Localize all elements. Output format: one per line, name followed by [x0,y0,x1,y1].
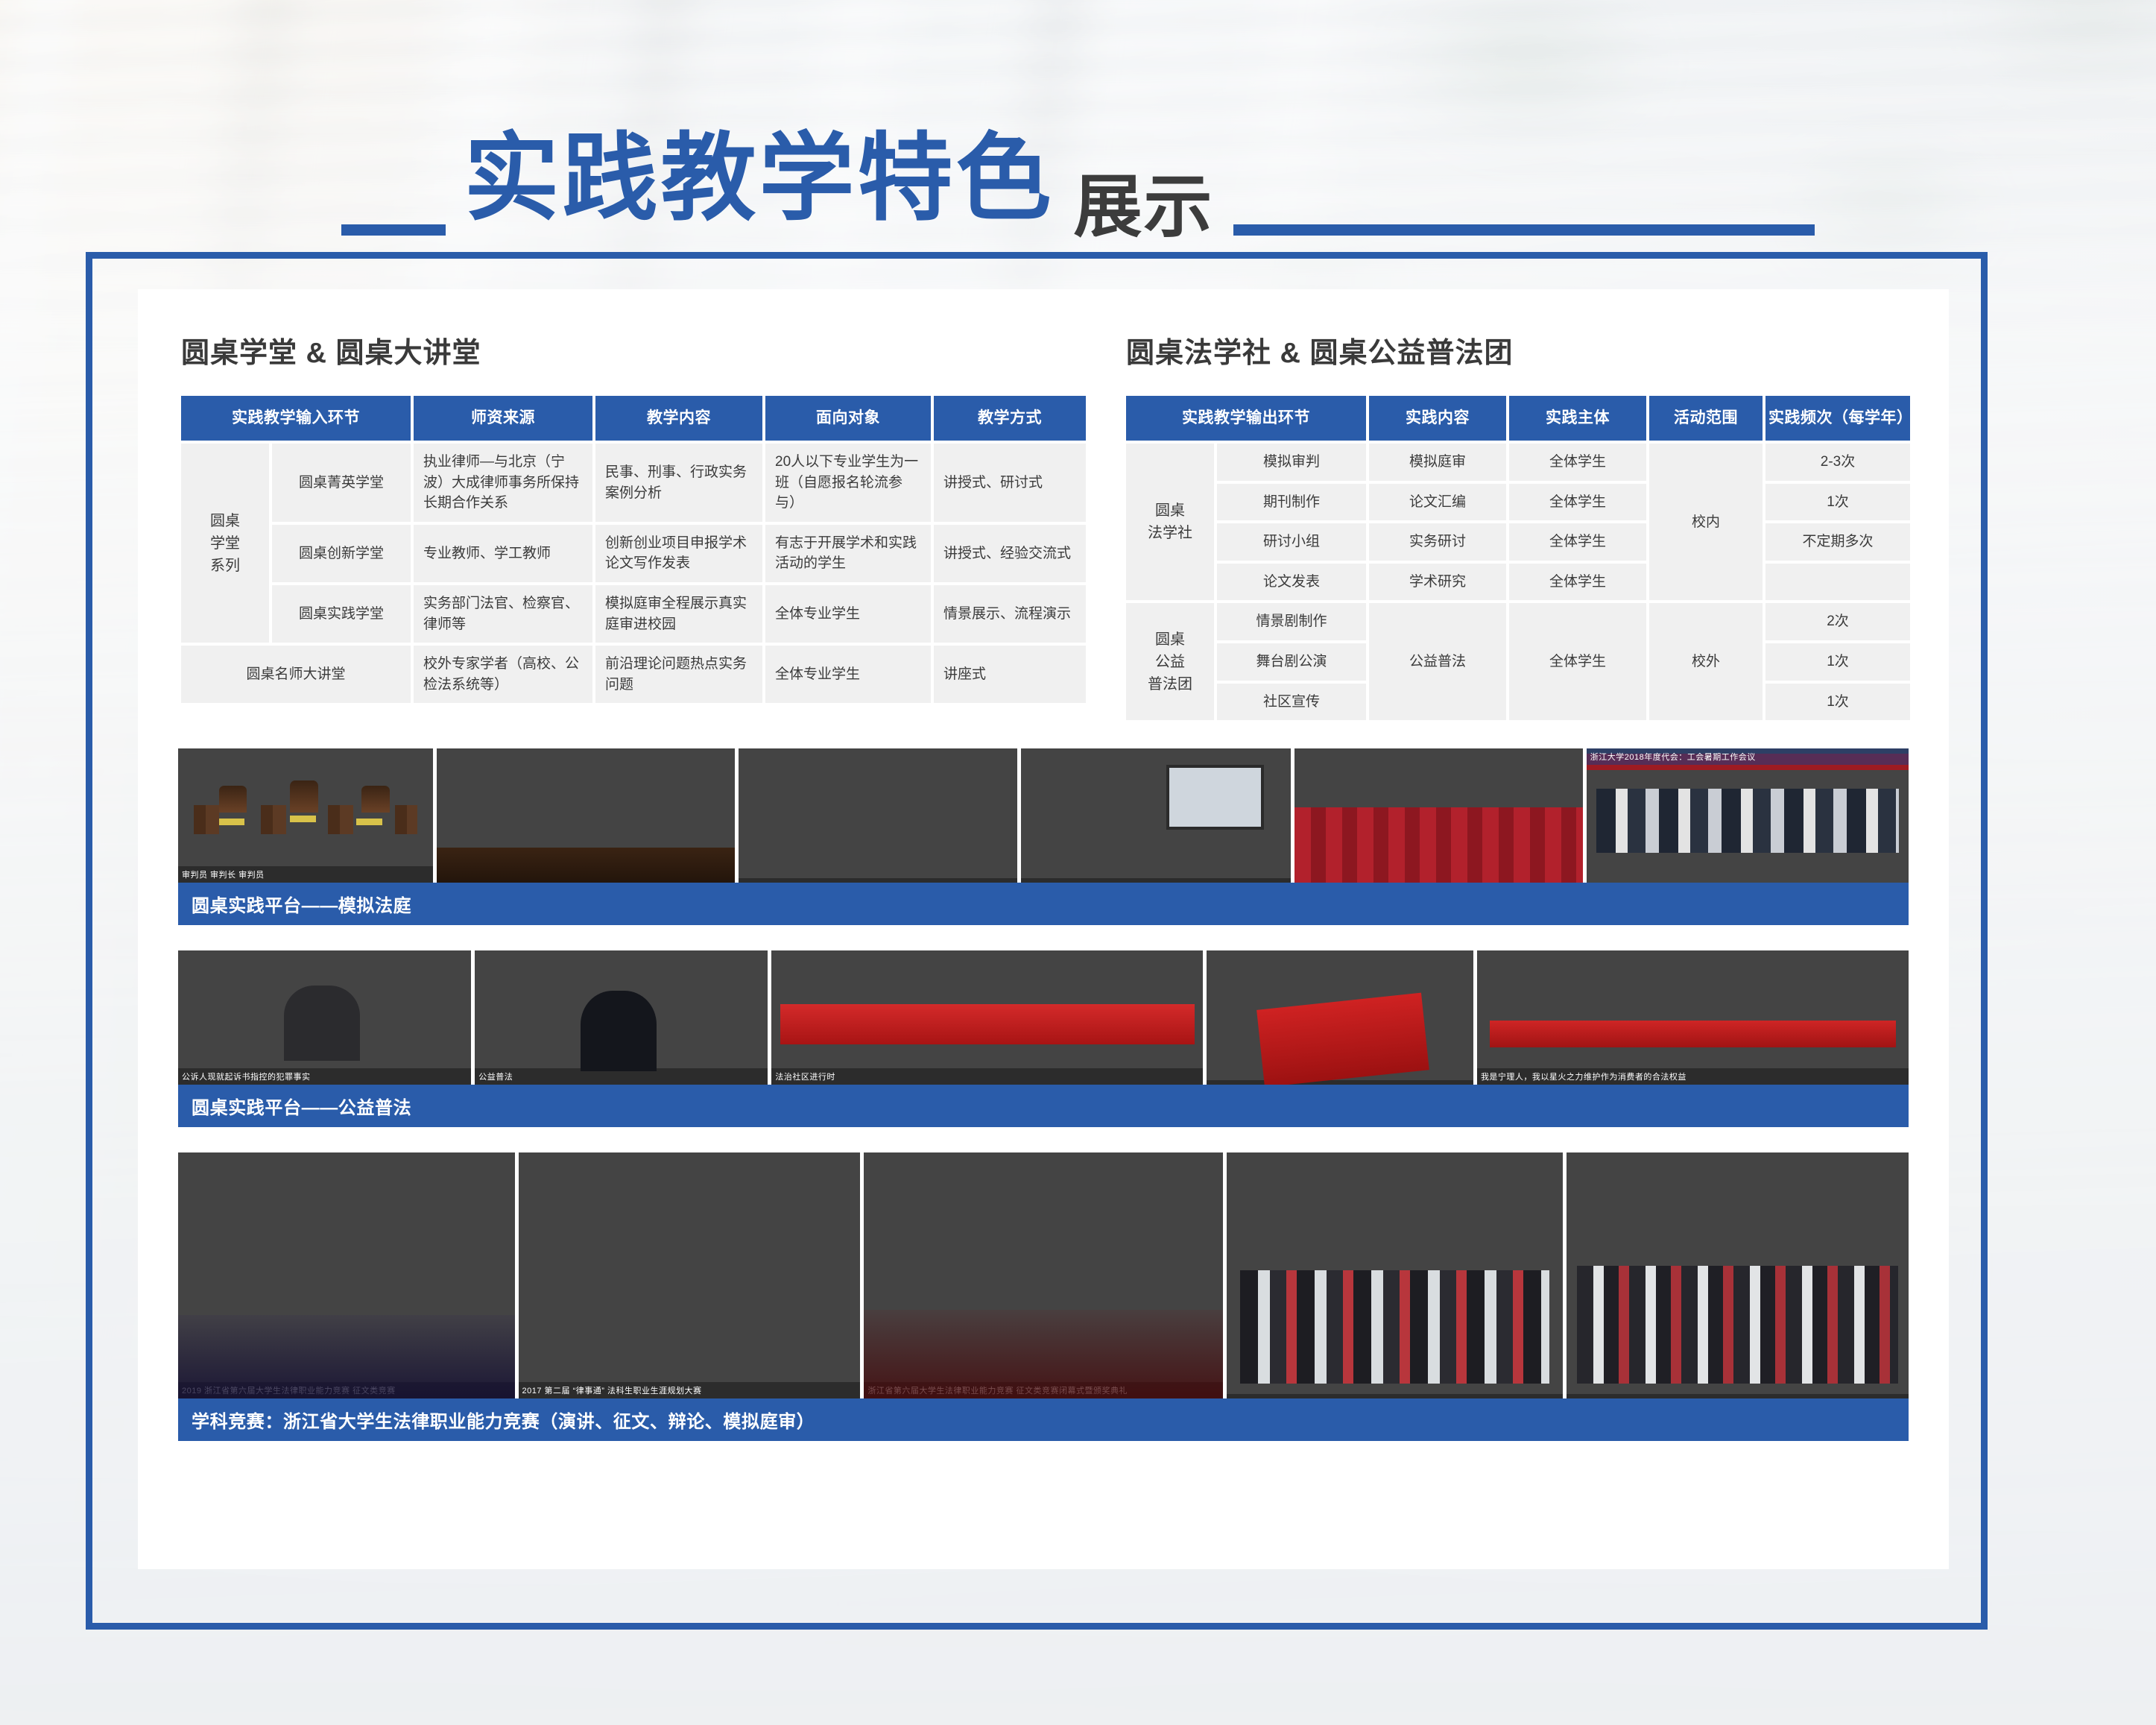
photo-caption-text: 2019 浙江省第六届大学生法律职业能力竞赛 征文类竞赛 [178,1382,515,1398]
right-group-b-content: 公益普法 [1369,603,1506,720]
right-panel: 圆桌法学社 & 圆桌公益普法团 实践教学输出环节 实践内容 实践主体 活动范围 … [1123,324,1913,723]
left-row2-item: 圆桌实践学堂 [272,585,411,643]
right-b-row1-freq: 1次 [1765,643,1910,681]
mock-court-auditorium-photo[interactable] [1294,748,1583,883]
gallery-caption: 学科竞赛：浙江省大学生法律职业能力竞赛（演讲、征文、辩论、模拟庭审） [178,1398,1909,1441]
photo-caption-text [1207,1080,1473,1085]
left-row0-item: 圆桌菁英学堂 [272,444,411,522]
right-a-row0-subject: 全体学生 [1509,444,1646,481]
gallery-strip-public-law: 公诉人现就起诉书指控的犯罪事实 公益普法 法治社区进行时 我是宁理人，我以星火之… [178,950,1909,1127]
left-lastrow-content: 前沿理论问题热点实务问题 [595,646,762,703]
right-b-row2-freq: 1次 [1765,684,1910,721]
contest-poster-red-photo[interactable]: 浙江省第六届大学生法律职业能力竞赛 征文类竞赛闭幕式暨颁奖典礼 [864,1152,1222,1398]
table-row: 圆桌名师大讲堂 校外专家学者（高校、公检法系统等） 前沿理论问题热点实务问题 全… [181,646,1086,703]
right-a-row2-freq: 不定期多次 [1765,523,1910,561]
title-rule-left [341,224,446,236]
contest-poster-2017-photo[interactable]: 2017 第二届 “律事通” 法科生职业生涯规划大赛 [519,1152,861,1398]
left-row1-source: 专业教师、学工教师 [414,525,592,582]
right-a-row0-content: 模拟庭审 [1369,444,1506,481]
right-group-a-scope: 校内 [1649,444,1763,600]
public-law-blue-studio-photo[interactable]: 公益普法 [475,950,768,1085]
tables-row: 圆桌学堂 & 圆桌大讲堂 实践教学输入环节 师资来源 教学内容 面向对象 教学方… [178,324,1909,723]
left-row0-content: 民事、刑事、行政实务案例分析 [595,444,762,522]
left-table-header-row: 实践教学输入环节 师资来源 教学内容 面向对象 教学方式 [181,396,1086,441]
mock-court-hall-dark-photo[interactable] [1021,748,1290,883]
right-a-row1-freq: 1次 [1765,484,1910,521]
gallery-strip-contest: 2019 浙江省第六届大学生法律职业能力竞赛 征文类竞赛 2017 第二届 “律… [178,1152,1909,1441]
right-a-row3-stage: 论文发表 [1217,564,1366,601]
left-col-header-2: 教学内容 [595,396,762,441]
right-group-b-label: 圆桌 公益 普法团 [1126,603,1214,720]
public-law-street-banner-photo[interactable]: 法治社区进行时 [771,950,1203,1085]
left-row0-source: 执业律师—与北京（宁波）大成律师事务所保持长期合作关系 [414,444,592,522]
right-a-row3-content: 学术研究 [1369,564,1506,601]
right-b-row1-stage: 舞台剧公演 [1217,643,1366,681]
right-table-header-row: 实践教学输出环节 实践内容 实践主体 活动范围 实践频次（每学年） [1126,396,1910,441]
right-group-b-label-line-0: 圆桌 [1136,628,1204,651]
contest-award-ceremony-2-photo[interactable] [1567,1152,1909,1398]
left-col-header-1: 师资来源 [414,396,592,441]
left-lastrow-item: 圆桌名师大讲堂 [181,646,411,703]
photo-caption-text: 2017 第二届 “律事通” 法科生职业生涯规划大赛 [519,1382,861,1398]
left-row1-content: 创新创业项目申报学术论文写作发表 [595,525,762,582]
gallery-strip-mock-court: 审判员 审判长 审判员 公诉人 公诉人 浙江大学2018年度代会：工会暑期工作会… [178,748,1909,925]
right-a-row2-subject: 全体学生 [1509,523,1646,561]
page-title-block: 实践教学特色 展示 [0,112,2156,246]
public-law-speaker-photo[interactable]: 公诉人现就起诉书指控的犯罪事实 [178,950,471,1085]
left-row0-method: 讲授式、研讨式 [934,444,1086,522]
photo-caption-text: 公诉人 公诉人 [437,866,735,883]
right-group-b-subject: 全体学生 [1509,603,1646,720]
table-row: 圆桌 学堂 系列 圆桌菁英学堂 执业律师—与北京（宁波）大成律师事务所保持长期合… [181,444,1086,522]
page-title-suffix: 展示 [1074,173,1214,246]
left-col-header-4: 教学方式 [934,396,1086,441]
photo-caption-text: 公益普法 [475,1068,768,1085]
left-col-header-3: 面向对象 [765,396,931,441]
right-a-row1-content: 论文汇编 [1369,484,1506,521]
left-group-label-line-1: 学堂 [191,532,259,555]
right-col-header-3: 活动范围 [1649,396,1763,441]
page-title: 实践教学特色 [464,131,1054,227]
left-row2-source: 实务部门法官、检察官、律师等 [414,585,592,643]
mock-court-group-photo[interactable]: 浙江大学2018年度代会：工会暑期工作会议 [1587,748,1909,883]
right-table: 实践教学输出环节 实践内容 实践主体 活动范围 实践频次（每学年） 圆桌 法学社… [1123,393,1913,723]
right-group-b-scope: 校外 [1649,603,1763,720]
left-panel: 圆桌学堂 & 圆桌大讲堂 实践教学输入环节 师资来源 教学内容 面向对象 教学方… [178,324,1080,723]
right-a-row1-subject: 全体学生 [1509,484,1646,521]
public-law-park-banner-photo[interactable]: 我是宁理人，我以星火之力维护作为消费者的合法权益 [1477,950,1909,1085]
table-row: 研讨小组 实务研讨 全体学生 不定期多次 [1126,523,1910,561]
right-a-row0-freq: 2-3次 [1765,444,1910,481]
right-a-row2-content: 实务研讨 [1369,523,1506,561]
left-row1-item: 圆桌创新学堂 [272,525,411,582]
right-col-header-0: 实践教学输出环节 [1126,396,1366,441]
mock-court-bench-photo[interactable]: 审判员 审判长 审判员 [178,748,433,883]
title-rule-right [1233,224,1815,236]
photo-caption-text: 公诉人现就起诉书指控的犯罪事实 [178,1068,471,1085]
right-b-row2-stage: 社区宣传 [1217,684,1366,721]
right-a-row3-freq [1765,564,1910,601]
photo-caption-text [1021,878,1290,883]
gallery-caption: 圆桌实践平台——模拟法庭 [178,883,1909,925]
table-row: 圆桌 公益 普法团 情景剧制作 公益普法 全体学生 校外 2次 [1126,603,1910,640]
public-law-signing-photo[interactable] [1207,950,1473,1085]
left-lastrow-method: 讲座式 [934,646,1086,703]
left-row1-audience: 有志于开展学术和实践活动的学生 [765,525,931,582]
right-group-a-label: 圆桌 法学社 [1126,444,1214,600]
table-row: 论文发表 学术研究 全体学生 [1126,564,1910,601]
table-row: 圆桌实践学堂 实务部门法官、检察官、律师等 模拟庭审全程展示真实庭审进校园 全体… [181,585,1086,643]
right-col-header-1: 实践内容 [1369,396,1506,441]
left-lastrow-source: 校外专家学者（高校、公检法系统等） [414,646,592,703]
right-a-row2-stage: 研讨小组 [1217,523,1366,561]
right-group-a-label-line-1: 法学社 [1136,522,1204,544]
right-group-b-label-line-1: 公益 [1136,651,1204,673]
left-col-header-0: 实践教学输入环节 [181,396,411,441]
left-panel-heading: 圆桌学堂 & 圆桌大讲堂 [181,329,1080,370]
left-group-label-line-2: 系列 [191,555,259,577]
left-row2-content: 模拟庭审全程展示真实庭审进校园 [595,585,762,643]
right-col-header-4: 实践频次（每学年） [1765,396,1910,441]
photo-caption-text: 法治社区进行时 [771,1068,1203,1085]
right-b-row0-freq: 2次 [1765,603,1910,640]
photo-caption-text [1294,878,1583,883]
right-group-b-label-line-2: 普法团 [1136,673,1204,696]
gallery-photo-row: 2019 浙江省第六届大学生法律职业能力竞赛 征文类竞赛 2017 第二届 “律… [178,1152,1909,1398]
contest-poster-2019-photo[interactable]: 2019 浙江省第六届大学生法律职业能力竞赛 征文类竞赛 [178,1152,515,1398]
right-a-row0-stage: 模拟审判 [1217,444,1366,481]
photo-caption-text [1567,1394,1909,1398]
contest-award-ceremony-1-photo[interactable] [1227,1152,1564,1398]
table-row: 期刊制作 论文汇编 全体学生 1次 [1126,484,1910,521]
left-table: 实践教学输入环节 师资来源 教学内容 面向对象 教学方式 圆桌 学堂 系列 [178,393,1089,706]
mock-court-prosecutors-photo[interactable]: 公诉人 公诉人 [437,748,735,883]
left-lastrow-audience: 全体专业学生 [765,646,931,703]
photo-caption-text [739,878,1017,883]
photo-caption-text: 我是宁理人，我以星火之力维护作为消费者的合法权益 [1477,1068,1909,1085]
gallery-photo-row: 审判员 审判长 审判员 公诉人 公诉人 浙江大学2018年度代会：工会暑期工作会… [178,748,1909,883]
mock-court-panel-photo[interactable] [739,748,1017,883]
left-group-label: 圆桌 学堂 系列 [181,444,269,643]
right-col-header-2: 实践主体 [1509,396,1646,441]
photo-caption-text: 审判员 审判长 审判员 [178,866,433,883]
content-card: 圆桌学堂 & 圆桌大讲堂 实践教学输入环节 师资来源 教学内容 面向对象 教学方… [138,289,1949,1569]
left-row0-audience: 20人以下专业学生为一班（自愿报名轮流参与） [765,444,931,522]
left-row2-method: 情景展示、流程演示 [934,585,1086,643]
right-b-row0-stage: 情景剧制作 [1217,603,1366,640]
photo-caption-text: 浙江省第六届大学生法律职业能力竞赛 征文类竞赛闭幕式暨颁奖典礼 [864,1382,1222,1398]
right-a-row1-stage: 期刊制作 [1217,484,1366,521]
table-row: 圆桌创新学堂 专业教师、学工教师 创新创业项目申报学术论文写作发表 有志于开展学… [181,525,1086,582]
left-row2-audience: 全体专业学生 [765,585,931,643]
photo-caption-text [1227,1394,1564,1398]
left-group-label-line-0: 圆桌 [191,510,259,532]
right-group-a-label-line-0: 圆桌 [1136,499,1204,522]
table-row: 圆桌 法学社 模拟审判 模拟庭审 全体学生 校内 2-3次 [1126,444,1910,481]
gallery-caption: 圆桌实践平台——公益普法 [178,1085,1909,1127]
gallery-photo-row: 公诉人现就起诉书指控的犯罪事实 公益普法 法治社区进行时 我是宁理人，我以星火之… [178,950,1909,1085]
left-row1-method: 讲授式、经验交流式 [934,525,1086,582]
right-a-row3-subject: 全体学生 [1509,564,1646,601]
right-panel-heading: 圆桌法学社 & 圆桌公益普法团 [1126,329,1913,370]
photo-caption-text: 浙江大学2018年度代会：工会暑期工作会议 [1587,748,1909,765]
